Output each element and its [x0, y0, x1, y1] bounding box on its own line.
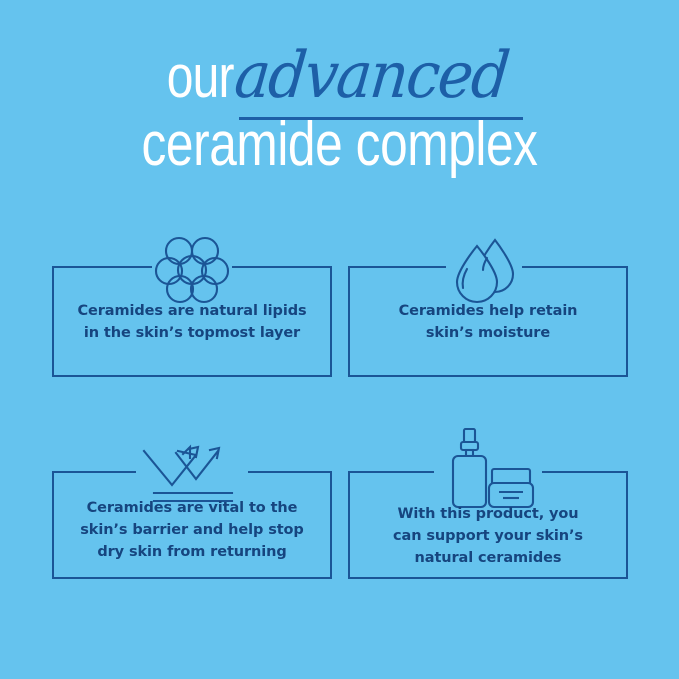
card-lipids-line-2: in the skin’s topmost layer: [52, 322, 332, 344]
card-moisture-text: Ceramides help retain skin’s moisture: [348, 300, 628, 344]
card-barrier-line-1: Ceramides are vital to the: [52, 497, 332, 519]
card-product-line-3: natural ceramides: [348, 547, 628, 569]
card-product-text: With this product, you can support your …: [348, 503, 628, 569]
card-moisture-line-2: skin’s moisture: [348, 322, 628, 344]
bottle-and-jar-icon: [424, 425, 552, 509]
card-product-line-1: With this product, you: [348, 503, 628, 525]
card-barrier-line-2: skin’s barrier and help stop: [52, 519, 332, 541]
headline-word-advanced: advanced: [232, 44, 511, 108]
card-product-line-2: can support your skin’s: [348, 525, 628, 547]
lipid-cluster-icon: [138, 232, 246, 304]
card-lipids-text: Ceramides are natural lipids in the skin…: [52, 300, 332, 344]
headline-line-1: our advanced: [0, 44, 679, 108]
water-droplets-icon: [432, 232, 540, 304]
card-barrier-line-3: dry skin from returning: [52, 541, 332, 563]
card-moisture: Ceramides help retain skin’s moisture: [348, 232, 628, 377]
barrier-deflect-arrows-icon: [130, 443, 254, 503]
headline-line-2: ceramide complex: [0, 114, 679, 176]
card-lipids: Ceramides are natural lipids in the skin…: [52, 232, 332, 377]
headline-word-advanced-wrap: advanced: [235, 44, 528, 108]
headline-ceramide-complex: ceramide complex: [141, 114, 537, 176]
card-barrier: Ceramides are vital to the skin’s barrie…: [52, 437, 332, 579]
card-barrier-text: Ceramides are vital to the skin’s barrie…: [52, 497, 332, 563]
card-lipids-line-1: Ceramides are natural lipids: [52, 300, 332, 322]
headline-block: our advanced ceramide complex: [0, 44, 679, 214]
card-product: With this product, you can support your …: [348, 425, 628, 579]
card-moisture-line-1: Ceramides help retain: [348, 300, 628, 322]
headline-word-our: our: [167, 47, 234, 107]
